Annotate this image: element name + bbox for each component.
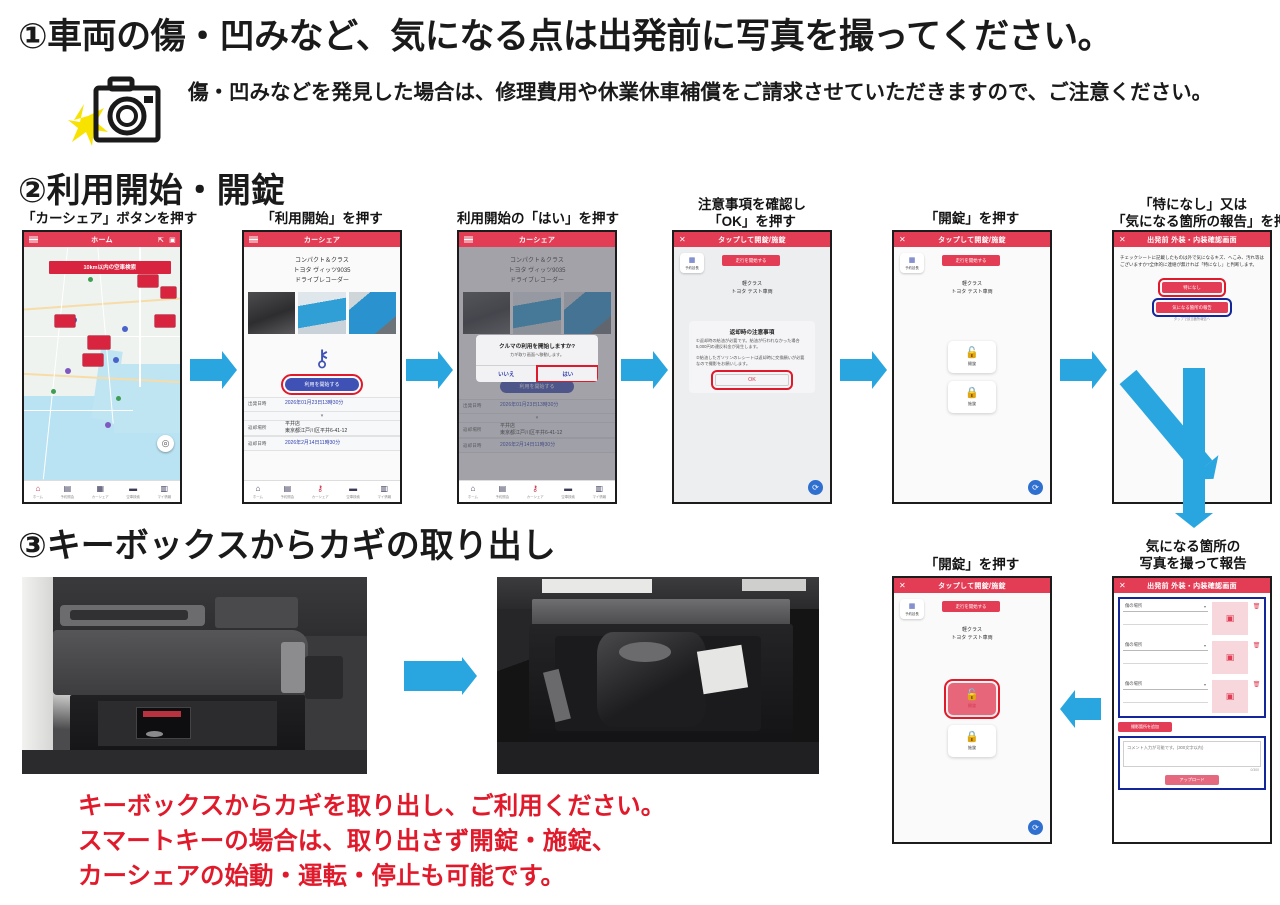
dialog-subtitle: カギ取り画面へ移動します。 [476,352,598,365]
arrow-step-5-to-6 [1060,359,1092,381]
car-icon: ▬ [349,485,357,493]
vehicle-class-info: 軽クラス トヨタ テスト車両 [674,280,830,297]
map-canvas[interactable]: 10km以内の空車検索 ◎ [24,247,180,480]
caption-step-4-line2: 「OK」を押す [708,214,796,229]
trash-icon[interactable]: 🗑 [1252,680,1261,688]
chip-label: 予約延長 [905,611,919,616]
car-model: トヨタ ヴィッツ9035 [248,266,396,276]
report-body: 傷の場所 ▾ ▣ 🗑 傷の場所 ▾ ▣ 🗑 [1114,597,1270,844]
sidebar-item-home[interactable]: ⌂ ホーム [253,485,263,499]
camera-icon[interactable]: ▣ [1212,641,1248,674]
reservation-icon: ▤ [284,485,292,493]
start-driving-button[interactable]: 走行を開始する [722,255,780,266]
home-icon: ⌂ [255,485,260,493]
section-2-title: ②利用開始・開錠 [18,163,285,212]
home-icon: ⌂ [35,485,40,493]
tab-label-profile: マイ情報 [593,494,607,499]
tab-label-carshare: カーシェア [92,494,109,499]
vehicle-class: 軽クラス [674,280,830,288]
header-title-unlock: タップして開錠/施錠 [938,581,1006,591]
caption-step-7: 「開錠」を押す [892,556,1052,573]
app-header-unlock: ✕ タップして開錠/施錠 [674,232,830,247]
home-icon: ⌂ [470,485,475,493]
detail-body: コンパクト＆クラス トヨタ ヴィッツ9035 ドライブレコーダー ⚷ 利用を開始… [244,247,400,502]
key-icon: ⚷ [244,347,400,370]
damage-location-select[interactable]: 傷の場所 ▾ [1123,680,1208,690]
caption-step-2: 「利用開始」を押す [242,210,402,227]
phone-screen-return-notice: ✕ タップして開錠/施錠 ▦ 予約延長 走行を開始する 軽クラス トヨタ テスト… [672,230,832,504]
label-return-place: 返却場所 [244,425,282,431]
select-label: 傷の場所 [1125,681,1142,687]
arrow-step-2-to-3 [406,359,438,381]
phone-screen-unlock-pressed: ✕ タップして開錠/施錠 ▦ 予約延長 走行を開始する 軽クラス トヨタ テスト… [892,576,1052,844]
phone-screen-home: ホーム ⇱ ▣ [22,230,182,504]
carshare-icon: ⚷ [317,485,323,493]
bottom-tab-bar: ⌂ ホーム ▤ 予約照会 ⚷ カーシェア ▬ 空車検索 ▥ マイ情報 [244,480,400,502]
arrow-report-to-unlock [1075,698,1101,720]
arrow-step-1-to-2 [190,359,222,381]
phone-screen-report: ✕ 出発前 外装・内装確認画面 傷の場所 ▾ ▣ 🗑 傷の場所 [1112,576,1272,844]
car-photo-interior[interactable] [248,292,295,334]
car-photo-front[interactable] [298,292,345,334]
car-info: コンパクト＆クラス トヨタ ヴィッツ9035 ドライブレコーダー [244,247,400,292]
tab-label-home: ホーム [33,494,43,499]
sidebar-item-profile[interactable]: ▥ マイ情報 [593,485,607,499]
chevron-down-icon: ▾ [244,412,400,420]
vehicle-name: トヨタ テスト車両 [894,634,1050,642]
return-notice-dialog: 返却時の注意事項 ①返却時の給油が必要です。給油が行われなかった場合5,000円… [689,321,815,393]
comment-char-count: 0/300 [1123,767,1261,772]
close-icon[interactable]: ✕ [899,582,906,590]
header-title-report: 出発前 外装・内装確認画面 [1147,581,1237,591]
start-driving-button[interactable]: 走行を開始する [942,255,1000,266]
vehicle-name: トヨタ テスト車両 [894,288,1050,296]
car-icon: ▬ [564,485,572,493]
camera-icon[interactable]: ▣ [1212,680,1248,713]
arrow-to-report-screen [1183,368,1205,513]
car-class: コンパクト＆クラス [248,256,396,266]
unlock-label: 開錠 [968,703,976,709]
tab-label-profile: マイ情報 [158,494,172,499]
hamburger-icon[interactable] [464,236,473,243]
lock-button[interactable]: 🔒 施錠 [948,725,996,757]
unlock-pressed-body: ▦ 予約延長 走行を開始する 軽クラス トヨタ テスト車両 🔓 開錠 🔒 施錠 … [894,593,1050,842]
app-header-confirm: カーシェア [459,232,615,247]
reservation-icon: ▤ [499,485,507,493]
report-issue-button[interactable]: 気になる箇所の報告 [1156,302,1228,313]
sidebar-item-profile[interactable]: ▥ マイ情報 [158,485,172,499]
caption-step-8: 気になる箇所の 写真を撮って報告 [1112,538,1274,573]
select-label: 傷の場所 [1125,642,1142,648]
close-icon[interactable]: ✕ [679,236,686,244]
table-row-return-time: 返却日時 2026年2月14日11時30分 [244,436,400,451]
app-header-unlock: ✕ タップして開錠/施錠 [894,578,1050,593]
caption-step-8-line1: 気になる箇所の [1146,539,1241,554]
caption-step-6-line2: 「気になる箇所の報告」を押す [1112,214,1280,229]
label-return-time: 返却日時 [244,441,282,447]
calendar-icon: ▦ [909,257,916,264]
value-return-time: 2026年2月14日11時30分 [282,440,400,447]
dialog-yes-button[interactable]: はい [537,366,599,382]
unlock-button[interactable]: 🔓 開錠 [948,341,996,373]
lock-open-icon: 🔓 [965,690,979,701]
list-item: 傷の場所 ▾ ▣ 🗑 [1123,641,1261,674]
lock-open-icon: 🔓 [965,348,979,359]
notice-title: 返却時の注意事項 [689,321,815,338]
hamburger-icon[interactable] [29,236,38,243]
tab-label-profile: マイ情報 [378,494,392,499]
comment-section: コメント入力が可能です。(300文字以内) 0/300 アップロード [1118,736,1266,790]
table-row-return-place: 返却場所 平井店 東京都江戸川区平井6-41-12 [244,420,400,437]
sidebar-item-carsearch[interactable]: ▬ 空車検索 [126,485,140,499]
notification-icon[interactable]: ▣ [169,236,176,244]
dialog-no-button[interactable]: いいえ [476,366,537,382]
car-photo-rear[interactable] [349,292,396,334]
app-header-unlock: ✕ タップして開錠/施錠 [894,232,1050,247]
keybox-photo [497,577,819,774]
damage-entries-group: 傷の場所 ▾ ▣ 🗑 傷の場所 ▾ ▣ 🗑 [1118,597,1266,718]
damage-location-select[interactable]: 傷の場所 ▾ [1123,602,1208,612]
inspection-instructions: チェックシートに記載したものは外で気になるキズ、へこみ、汚れ等はございますか?全… [1114,247,1270,268]
camera-icon[interactable]: ▣ [1212,602,1248,635]
add-photo-slot-button[interactable]: 撮影箇所を追加 [1118,722,1172,732]
confirm-dialog: クルマの利用を開始しますか? カギ取り画面へ移動します。 いいえ はい [476,335,598,382]
tab-label-reservation: 予約照会 [61,494,75,499]
extend-reservation-chip[interactable]: ▦ 予約延長 [900,599,924,619]
extend-reservation-chip[interactable]: ▦ 予約延長 [680,253,704,273]
lock-label: 施錠 [968,401,976,407]
sidebar-item-profile[interactable]: ▥ マイ情報 [378,485,392,499]
refresh-icon[interactable]: ⟳ [808,480,823,495]
sidebar-item-home[interactable]: ⌂ ホーム [468,485,478,499]
arrow-step-4-to-5 [840,359,872,381]
extend-reservation-chip[interactable]: ▦ 予約延長 [900,253,924,273]
lock-button[interactable]: 🔒 施錠 [948,381,996,413]
section-3-bottom-copy: キーボックスからカギを取り出し、ご利用ください。 スマートキーの場合は、取り出さ… [78,790,898,894]
tab-label-home: ホーム [253,494,263,499]
app-header-inspection: ✕ 出発前 外装・内装確認画面 [1114,232,1270,247]
trash-icon[interactable]: 🗑 [1252,641,1261,649]
glovebox-photo [22,577,367,774]
trash-icon[interactable]: 🗑 [1252,602,1261,610]
tab-label-home: ホーム [468,494,478,499]
chevron-down-icon: ▾ [1204,604,1206,609]
arrow-step-3-to-4 [621,359,653,381]
close-icon[interactable]: ✕ [1119,236,1126,244]
app-header-detail: カーシェア [244,232,400,247]
caption-step-6-line1: 「特になし」又は [1139,197,1247,212]
no-issue-button[interactable]: 特になし [1162,282,1222,293]
unlock-body: ▦ 予約延長 走行を開始する 軽クラス トヨタ テスト車両 🔓 開錠 🔒 施錠 … [894,247,1050,502]
tab-label-carshare: カーシェア [527,494,544,499]
dialog-actions: いいえ はい [476,365,598,382]
tab-label-reservation: 予約照会 [496,494,510,499]
start-driving-button[interactable]: 走行を開始する [942,601,1000,612]
notice-body-1: ①返却時の給油が必要です。給油が行われなかった場合5,000円の違反料金が発生し… [689,338,815,355]
vehicle-class-info: 軽クラス トヨタ テスト車両 [894,626,1050,643]
bottom-tab-bar: ⌂ ホーム ▤ 予約照会 ⚷ カーシェア ▬ 空車検索 ▥ マイ情報 [459,480,615,502]
car-option: ドライブレコーダー [248,276,396,286]
notice-ok-button[interactable]: OK [715,374,789,386]
caption-step-5: 「開錠」を押す [892,210,1052,227]
start-usage-button[interactable]: 利用を開始する [285,378,359,391]
camera-icon [66,70,176,150]
app-header-home: ホーム ⇱ ▣ [24,232,180,247]
car-icon: ▬ [129,485,137,493]
sidebar-item-carshare[interactable]: ⚷ カーシェア [527,485,544,499]
tab-label-carsearch: 空車検索 [126,494,140,499]
caption-step-4-line1: 注意事項を確認し [698,197,806,212]
caption-step-1: 「カーシェア」ボタンを押す [22,210,182,227]
chevron-down-icon: ▾ [1204,643,1206,648]
header-title-home: ホーム [91,235,113,245]
damage-detail-field[interactable] [1123,612,1208,625]
section-1-note: 傷・凹みなどを発見した場合は、修理費用や休業休車補償をご請求させていただきますの… [188,78,1268,109]
reservation-icon: ▤ [64,485,72,493]
sidebar-item-carshare[interactable]: ⚷ カーシェア [312,485,329,499]
caption-step-4: 注意事項を確認し 「OK」を押す [672,196,832,231]
profile-icon: ▥ [381,485,389,493]
damage-detail-field[interactable] [1123,690,1208,703]
tab-label-carsearch: 空車検索 [346,494,360,499]
dialog-title: クルマの利用を開始しますか? [476,335,598,352]
phone-screen-unlock: ✕ タップして開錠/施錠 ▦ 予約延長 走行を開始する 軽クラス トヨタ テスト… [892,230,1052,504]
damage-detail-field[interactable] [1123,651,1208,664]
table-row-departure: 出発日時 2026年01月23日13時30分 [244,397,400,412]
comment-input[interactable]: コメント入力が可能です。(300文字以内) [1123,741,1261,767]
inspection-hint: タップで該当箇所報告へ [1114,316,1270,321]
profile-icon: ▥ [596,485,604,493]
sidebar-item-reservation[interactable]: ▤ 予約照会 [61,485,75,499]
tab-label-reservation: 予約照会 [281,494,295,499]
label-departure: 出発日時 [244,401,282,407]
hamburger-icon[interactable] [249,236,258,243]
home-body: 10km以内の空車検索 ◎ ⌂ ホーム ▤ 予約照会 ▦ カーシェア ▬ 空車検… [24,247,180,502]
list-item: 傷の場所 ▾ ▣ 🗑 [1123,602,1261,635]
caption-step-3: 利用開始の「はい」を押す [457,210,617,227]
header-title-inspection: 出発前 外装・内装確認画面 [1147,235,1237,245]
tab-label-carsearch: 空車検索 [561,494,575,499]
sidebar-item-home[interactable]: ⌂ ホーム [33,485,43,499]
value-departure: 2026年01月23日13時30分 [282,400,400,407]
share-icon[interactable]: ⇱ [158,236,164,244]
arrow-photo-1-to-2 [404,661,462,691]
vehicle-class-info: 軽クラス トヨタ テスト車両 [894,280,1050,297]
chip-label: 予約延長 [685,265,699,270]
value-return-place: 平井店 東京都江戸川区平井6-41-12 [282,421,400,436]
list-item: 傷の場所 ▾ ▣ 🗑 [1123,680,1261,713]
sidebar-item-carsearch[interactable]: ▬ 空車検索 [346,485,360,499]
app-header-report: ✕ 出発前 外装・内装確認画面 [1114,578,1270,593]
car-photo-strip[interactable] [244,292,400,334]
header-title-unlock: タップして開錠/施錠 [938,235,1006,245]
lock-closed-icon: 🔒 [965,732,979,743]
tab-label-carshare: カーシェア [312,494,329,499]
unlock-button[interactable]: 🔓 開錠 [948,683,996,715]
close-icon[interactable]: ✕ [899,236,906,244]
upload-button[interactable]: アップロード [1165,775,1219,785]
refresh-icon[interactable]: ⟳ [1028,820,1043,835]
refresh-icon[interactable]: ⟳ [1028,480,1043,495]
confirm-body: コンパクト＆クラス トヨタ ヴィッツ9035 ドライブレコーダー 利用を開始する… [459,247,615,502]
vehicle-class: 軽クラス [894,280,1050,288]
calendar-icon: ▦ [689,257,696,264]
vehicle-name: トヨタ テスト車両 [674,288,830,296]
caption-step-6: 「特になし」又は 「気になる箇所の報告」を押す [1112,196,1274,231]
sidebar-item-reservation[interactable]: ▤ 予約照会 [496,485,510,499]
sidebar-item-carshare[interactable]: ▦ カーシェア [92,485,109,499]
calendar-icon: ▦ [909,603,916,610]
header-title-unlock: タップして開錠/施錠 [718,235,786,245]
unlock-label: 開錠 [968,361,976,367]
sidebar-item-carsearch[interactable]: ▬ 空車検索 [561,485,575,499]
chip-label: 予約延長 [905,265,919,270]
locate-icon[interactable]: ◎ [157,435,174,452]
lock-closed-icon: 🔒 [965,388,979,399]
damage-location-select[interactable]: 傷の場所 ▾ [1123,641,1208,651]
sidebar-item-reservation[interactable]: ▤ 予約照会 [281,485,295,499]
select-label: 傷の場所 [1125,603,1142,609]
close-icon[interactable]: ✕ [1119,582,1126,590]
section-1-title: ①車両の傷・凹みなど、気になる点は出発前に写真を撮ってください。 [18,8,1112,59]
bottom-tab-bar: ⌂ ホーム ▤ 予約照会 ▦ カーシェア ▬ 空車検索 ▥ マイ情報 [24,480,180,502]
notice-body-2: ②給油したガソリンのレシートは返却時に交換願いが必要なので撮影をお願いします。 [689,355,815,375]
section-3-title: ③キーボックスからカギの取り出し [18,518,556,567]
return-notice-body: ▦ 予約延長 走行を開始する 軽クラス トヨタ テスト車両 返却時の注意事項 ①… [674,247,830,502]
header-title-detail: カーシェア [304,235,340,245]
chevron-down-icon: ▾ [1204,682,1206,687]
phone-screen-detail: カーシェア コンパクト＆クラス トヨタ ヴィッツ9035 ドライブレコーダー ⚷… [242,230,402,504]
profile-icon: ▥ [161,485,169,493]
caption-step-8-line2: 写真を撮って報告 [1139,556,1246,571]
lock-label: 施錠 [968,745,976,751]
map-search-banner[interactable]: 10km以内の空車検索 [49,261,171,274]
vehicle-class: 軽クラス [894,626,1050,634]
phone-screen-confirm: カーシェア コンパクト＆クラス トヨタ ヴィッツ9035 ドライブレコーダー 利… [457,230,617,504]
carshare-icon: ▦ [96,485,104,493]
header-title-confirm: カーシェア [519,235,555,245]
carshare-icon: ⚷ [532,485,538,493]
